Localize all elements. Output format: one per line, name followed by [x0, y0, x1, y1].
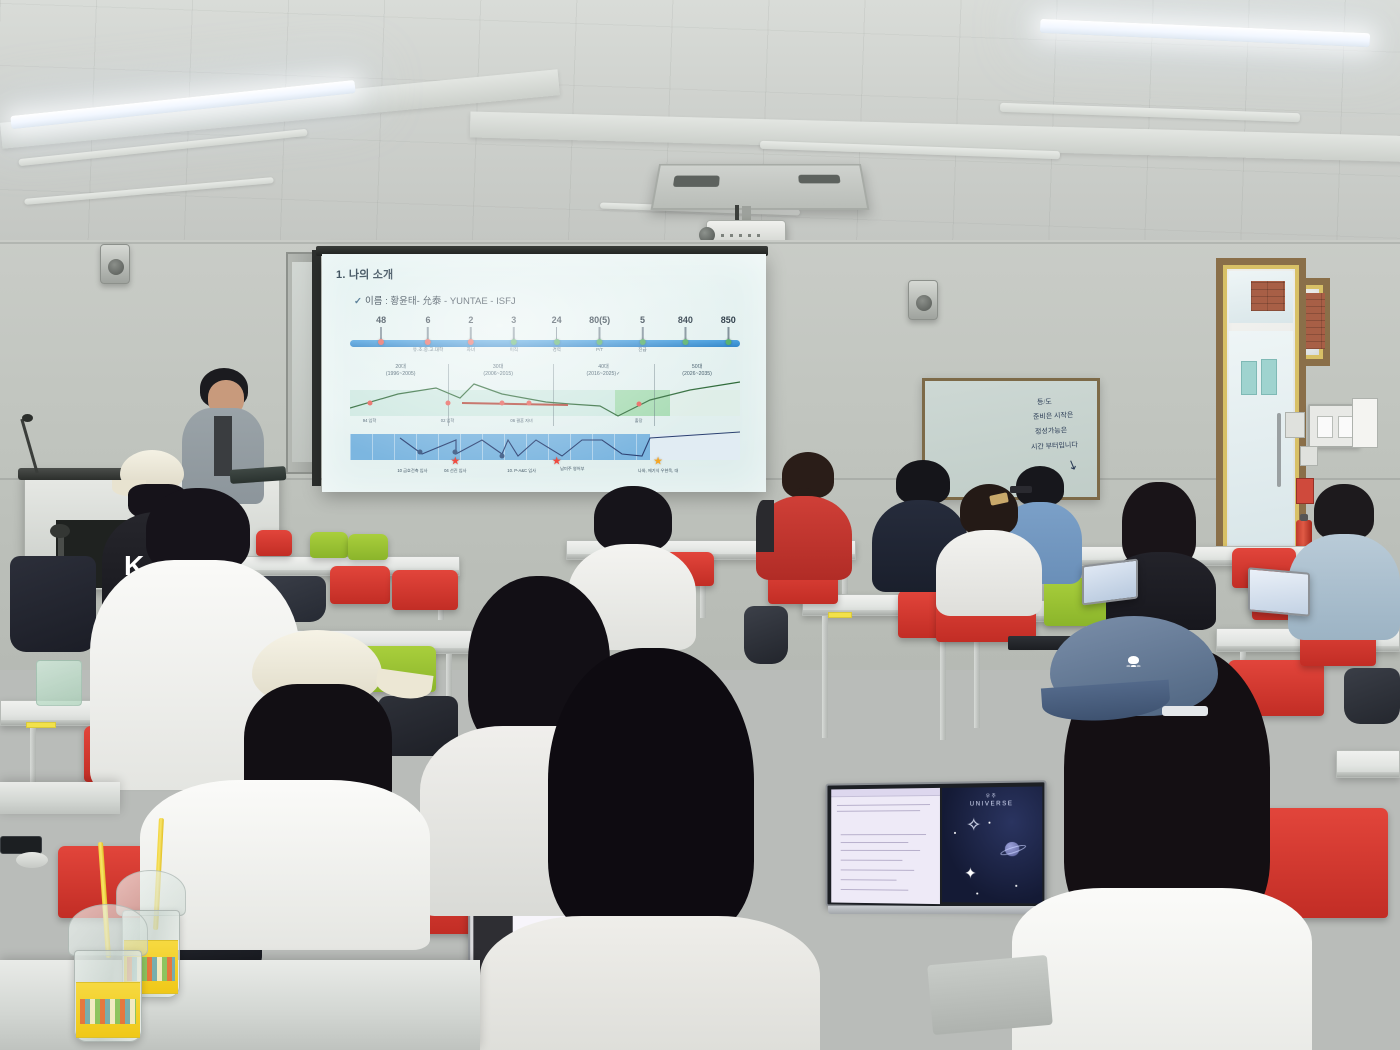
decade-chart: 20대(1996~2005) 30대(2006~2015) 40대(2016~2…	[350, 364, 740, 426]
check-icon: ✓	[354, 296, 362, 307]
whiteboard-text: 준비은 시작은	[1033, 410, 1074, 423]
timeline-value: 5	[638, 316, 646, 325]
universe-laptop[interactable]: 우주 UNIVERSE ✧ ✦	[822, 782, 1044, 932]
timeline-label: 자녀	[467, 347, 475, 353]
ceiling	[0, 0, 1400, 252]
decade-point	[636, 402, 641, 407]
timeline-value: 6	[413, 316, 443, 325]
small-object	[16, 852, 48, 868]
timeline-value: 840	[678, 316, 693, 325]
chair[interactable]	[348, 534, 388, 560]
whiteboard-text: 정성가능은	[1035, 425, 1068, 437]
cup-on-table	[36, 660, 82, 706]
timeline-label: P/T	[589, 347, 610, 352]
audience-white-blouse	[936, 484, 1042, 610]
timeline-dot	[725, 339, 731, 345]
document-window	[831, 788, 940, 904]
projection-screen: 1. 나의 소개 ✓이름 : 황윤태- 允泰 - YUNTAE - ISFJ 4…	[322, 254, 766, 492]
decade-point	[500, 401, 505, 406]
career-note: 10 금호건축 입사	[397, 468, 427, 473]
wall-notice	[1352, 398, 1378, 448]
career-point	[500, 454, 505, 459]
wall-outlet[interactable]	[1300, 446, 1318, 466]
decade-note: 02 입학	[441, 418, 455, 424]
cap-strap	[1162, 706, 1208, 716]
chair[interactable]	[310, 532, 348, 558]
career-note: 10. P-A&C 입사	[507, 468, 536, 473]
bag	[1344, 668, 1400, 724]
career-note: 나와, 에기식 우현욱, 대	[638, 468, 679, 473]
timeline-dot	[639, 339, 645, 345]
table	[0, 782, 120, 814]
cup-label	[76, 982, 140, 1038]
desk-item	[927, 955, 1053, 1035]
timeline-dot	[425, 339, 431, 345]
laptop-screen	[1082, 559, 1138, 606]
slide-content: 1. 나의 소개 ✓이름 : 황윤태- 允泰 - YUNTAE - ISFJ 4…	[322, 254, 766, 492]
audience-blue-cap	[1012, 608, 1312, 1050]
timeline-chart: 48 6유.초.중.고.대학 2자녀 3이직 24경력 80(5)P/T 5진급…	[350, 316, 740, 358]
table	[1336, 750, 1400, 778]
timeline-dot	[511, 339, 517, 345]
career-point	[418, 450, 423, 455]
slide-bullet: ✓이름 : 황윤태- 允泰 - YUNTAE - ISFJ	[354, 293, 752, 307]
drink-cup-front	[66, 842, 152, 1040]
decade-point	[527, 401, 532, 406]
classroom-scene: 1. 나의 소개 ✓이름 : 황윤태- 允泰 - YUNTAE - ISFJ 4…	[0, 0, 1400, 1050]
timeline-label: 경력	[552, 347, 562, 353]
board-edge	[312, 250, 321, 486]
decade-note: 06 결혼 자녀	[510, 418, 532, 424]
timeline-dot	[554, 339, 560, 345]
projector-indicators	[721, 234, 761, 237]
slide-title: 1. 나의 소개	[336, 266, 752, 282]
timeline-dot	[468, 339, 474, 345]
career-note: 남미주 영어부	[560, 466, 584, 471]
decade-point	[367, 401, 372, 406]
wall-speaker	[100, 244, 130, 284]
whiteboard-text: 시간 부터입니다	[1031, 440, 1078, 453]
wall-switch-box[interactable]	[1285, 412, 1305, 438]
slide-bullet-text: 이름 : 황윤태- 允泰 - YUNTAE - ISFJ	[365, 296, 516, 307]
timeline-value: 2	[467, 316, 475, 325]
timeline-value: 3	[510, 316, 518, 325]
microphone-head	[50, 524, 70, 538]
timeline-label: 유.초.중.고.대학	[413, 347, 443, 353]
whiteboard-text: 등/도	[1037, 397, 1052, 408]
timeline-label: 진급	[638, 347, 646, 353]
star-icon: ✦	[964, 864, 977, 882]
decade-note: 출장	[635, 418, 643, 424]
decade-point	[445, 401, 450, 406]
cap-brim	[374, 668, 433, 702]
paw-print-icon	[1128, 656, 1139, 664]
timeline-value: 80(5)	[589, 316, 610, 325]
audience-long-hair-center	[480, 648, 820, 1050]
timeline-value: 48	[376, 316, 386, 325]
timeline-dot	[378, 339, 384, 345]
decade-trend-line	[350, 364, 740, 426]
air-vent	[651, 164, 870, 210]
career-note: 04 선진 입사	[444, 468, 466, 473]
wall-speaker	[908, 280, 938, 320]
microphone	[22, 414, 33, 422]
career-trend-line	[350, 430, 740, 470]
timeline-dot	[682, 339, 688, 345]
timeline-dot	[597, 339, 603, 345]
career-star-icon: ★	[653, 457, 663, 468]
backpack	[10, 556, 96, 652]
career-chart: ★ ★ ★ 10 금호건축 입사 04 선진 입사 10. P-A&C 입사 남…	[350, 430, 740, 482]
laptop-left-back[interactable]	[1082, 562, 1150, 608]
cup-dome-lid	[68, 904, 148, 956]
timeline-value: 24	[552, 316, 562, 325]
decade-note: 94 입학	[363, 418, 377, 424]
audience-red-shirt	[756, 452, 852, 572]
timeline-value: 850	[721, 316, 736, 325]
chair[interactable]	[330, 566, 390, 604]
career-point	[453, 450, 458, 455]
compass-icon: ✧	[966, 816, 981, 834]
timeline-label: 이직	[510, 347, 518, 353]
career-star-icon: ★	[450, 457, 460, 468]
